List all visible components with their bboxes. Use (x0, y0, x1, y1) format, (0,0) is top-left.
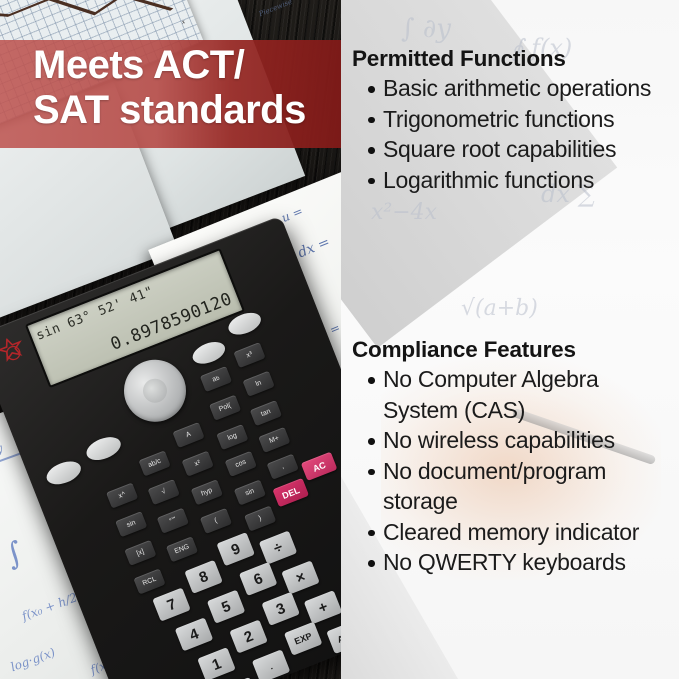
list-item: No Computer Algebra System (CAS) (341, 364, 679, 425)
brand-star-logo-icon (0, 333, 31, 368)
banner-line-1: Meets ACT/ (33, 43, 244, 88)
key-sqrt[interactable]: √ (148, 479, 180, 505)
list-item: No wireless capabilities (341, 425, 679, 456)
key-8[interactable]: 8 (184, 560, 223, 594)
key-del[interactable]: DEL (272, 478, 309, 507)
key-1[interactable]: 1 (197, 647, 236, 679)
key-ac[interactable]: AC (301, 452, 338, 481)
key-comma[interactable]: , (267, 454, 299, 480)
key-hyp[interactable]: hyp (191, 479, 223, 505)
list-item: Square root capabilities (341, 134, 679, 165)
graph-axis-label-x: x (181, 19, 186, 26)
list-item: No QWERTY keyboards (341, 547, 679, 578)
calculator-replay-dpad[interactable] (115, 351, 195, 431)
section-compliance-features: Compliance Features No Computer Algebra … (341, 337, 679, 578)
mode-clr-key[interactable] (190, 338, 229, 368)
list-item: No document/program storage (341, 456, 679, 517)
key-2[interactable]: 2 (229, 619, 268, 653)
handwriting-integral-sign: ∫ (1, 535, 28, 573)
key-divide[interactable]: ÷ (259, 531, 298, 565)
key-bracket[interactable]: [x] (124, 540, 156, 566)
key-close-paren[interactable]: ) (244, 506, 276, 532)
list-item: Logarithmic functions (341, 165, 679, 196)
section-permitted-functions: Permitted Functions Basic arithmetic ope… (341, 46, 679, 195)
key-tan[interactable]: tan (250, 400, 282, 426)
key-x-pow[interactable]: x^ (106, 483, 138, 509)
handwriting-dx: dx = (296, 234, 333, 261)
key-log[interactable]: log (216, 424, 248, 450)
key-a[interactable]: A (172, 422, 204, 448)
key-plus[interactable]: + (304, 590, 341, 624)
key-rcl[interactable]: RCL (133, 568, 165, 594)
key-dms[interactable]: °'" (157, 508, 189, 534)
key-3[interactable]: 3 (261, 592, 300, 626)
key-multiply[interactable]: × (281, 560, 320, 594)
key-rcl-func[interactable]: ab (200, 366, 232, 392)
key-x-cube[interactable]: x³ (233, 342, 265, 368)
list-permitted-functions: Basic arithmetic operations Trigonometri… (341, 73, 679, 195)
key-pol[interactable]: Pol( (209, 395, 241, 421)
key-open-paren[interactable]: ( (200, 508, 232, 534)
key-9[interactable]: 9 (216, 532, 255, 566)
features-content: Permitted Functions Basic arithmetic ope… (341, 0, 679, 679)
product-photo-panel: 6 4 2 x Piecewise 3x+5 (x²−4x+7)² dx = x… (0, 0, 341, 679)
alpha-key[interactable] (83, 433, 124, 465)
key-4[interactable]: 4 (175, 617, 214, 651)
key-decimal-point[interactable]: . (252, 649, 291, 679)
key-m-plus[interactable]: M+ (258, 427, 290, 453)
list-item: Cleared memory indicator (341, 517, 679, 548)
handwriting-log-gx: log·g(x) (9, 645, 57, 674)
handwriting-u-equals: u = (280, 204, 305, 225)
key-exp[interactable]: EXP (284, 622, 323, 656)
key-abc[interactable]: ab/c (138, 450, 170, 476)
key-x-square[interactable]: x² (182, 451, 214, 477)
shift-key[interactable] (43, 457, 84, 489)
heading-compliance-features: Compliance Features (341, 337, 679, 363)
key-cos[interactable]: cos (225, 451, 257, 477)
features-text-panel: ∫ ∂y ∮ f(x) x²−4x dx ∑ √(a+b) Permitted … (341, 0, 679, 679)
infographic-page: 6 4 2 x Piecewise 3x+5 (x²−4x+7)² dx = x… (0, 0, 679, 679)
meets-standards-banner: Meets ACT/ SAT standards (0, 40, 341, 148)
handwriting-fy-dy: f(y) dy (0, 441, 5, 467)
key-6[interactable]: 6 (239, 562, 278, 596)
key-ln[interactable]: ln (243, 371, 275, 397)
list-item: Basic arithmetic operations (341, 73, 679, 104)
key-sin-inv[interactable]: sin (115, 511, 147, 537)
key-eng[interactable]: ENG (166, 536, 198, 562)
list-compliance-features: No Computer Algebra System (CAS) No wire… (341, 364, 679, 578)
key-7[interactable]: 7 (152, 588, 191, 622)
key-sin[interactable]: sin (234, 479, 266, 505)
heading-permitted-functions: Permitted Functions (341, 46, 679, 72)
key-5[interactable]: 5 (207, 590, 246, 624)
banner-line-2: SAT standards (33, 88, 306, 133)
list-item: Trigonometric functions (341, 104, 679, 135)
key-ans[interactable]: Ans (326, 620, 341, 654)
